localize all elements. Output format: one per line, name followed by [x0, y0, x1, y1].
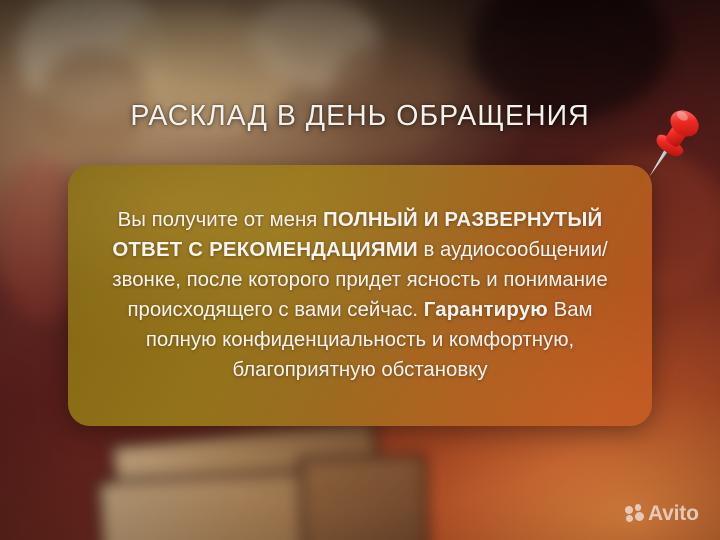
offer-text-emphasis: Гарантирую: [424, 299, 548, 321]
offer-card-text: Вы получите от меня ПОЛНЫЙ И РАЗВЕРНУТЫЙ…: [96, 205, 624, 385]
offer-card: Вы получите от меня ПОЛНЫЙ И РАЗВЕРНУТЫЙ…: [68, 165, 652, 426]
promo-image: РАСКЛАД В ДЕНЬ ОБРАЩЕНИЯ Вы получите от …: [0, 0, 720, 540]
page-title: РАСКЛАД В ДЕНЬ ОБРАЩЕНИЯ: [0, 100, 720, 133]
avito-watermark: Avito: [625, 503, 699, 524]
pushpin-icon: [638, 104, 702, 186]
offer-text-run: Вы получите от меня: [118, 209, 323, 231]
avito-wordmark: Avito: [648, 503, 699, 524]
avito-dots-icon: [625, 504, 644, 523]
